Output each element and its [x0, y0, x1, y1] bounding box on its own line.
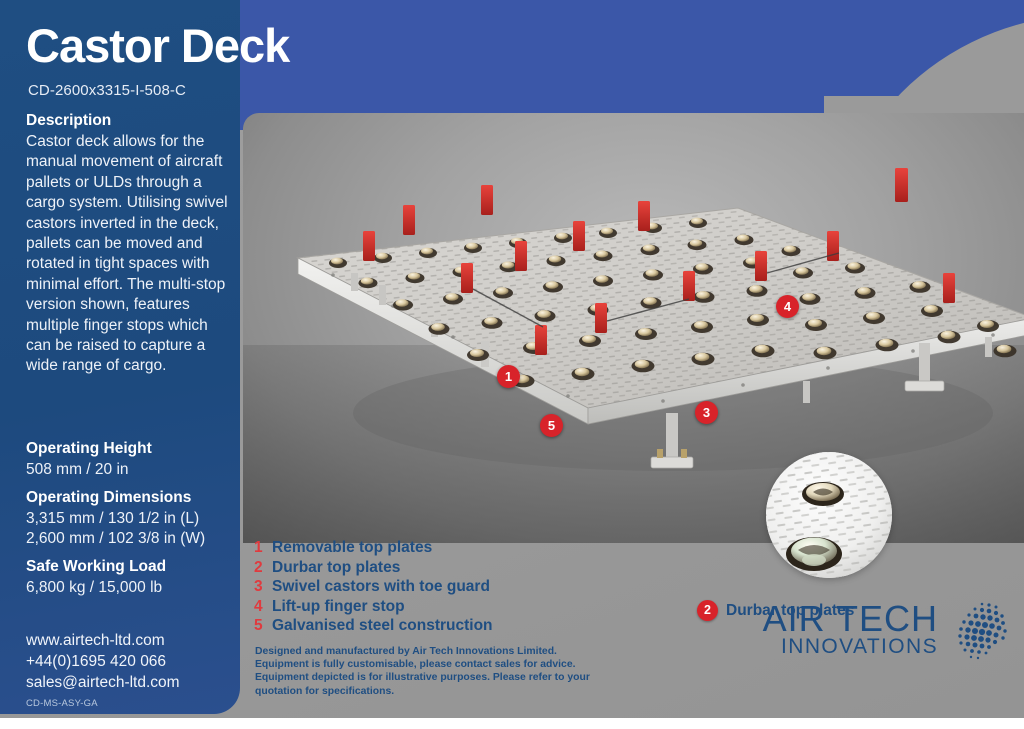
legend-label: Swivel castors with toe guard [272, 577, 490, 597]
contact-email[interactable]: sales@airtech-ltd.com [26, 672, 236, 693]
spec-safe-working-load: Safe Working Load 6,800 kg / 15,000 lb [26, 558, 236, 598]
spec-operating-dimensions: Operating Dimensions 3,315 mm / 130 1/2 … [26, 489, 236, 549]
spec-heading: Operating Height [26, 440, 236, 458]
page-title: Castor Deck [26, 22, 289, 69]
detail-badge: 2 [697, 600, 718, 621]
legend-number: 5 [254, 616, 272, 636]
product-image-panel: 1 3 4 5 [243, 113, 1024, 543]
globe-icon [942, 598, 1010, 669]
spec-operating-height: Operating Height 508 mm / 20 in [26, 440, 236, 480]
spec-value: 508 mm / 20 in [26, 460, 236, 480]
disclaimer-text: Designed and manufactured by Air Tech In… [255, 645, 675, 698]
specifications-block: Operating Height 508 mm / 20 in Operatin… [26, 440, 236, 607]
legend-label: Galvanised steel construction [272, 616, 493, 636]
spec-value-length: 3,315 mm / 130 1/2 in (L) [26, 509, 236, 529]
legend-label: Lift-up finger stop [272, 597, 405, 617]
description-heading: Description [26, 112, 231, 130]
spec-heading: Safe Working Load [26, 558, 236, 576]
legend-item-2: 2 Durbar top plates [254, 558, 493, 578]
legend-number: 2 [254, 558, 272, 578]
contact-block: www.airtech-ltd.com +44(0)1695 420 066 s… [26, 630, 236, 709]
product-code: CD-2600x3315-I-508-C [28, 82, 186, 99]
info-sidebar: Castor Deck CD-2600x3315-I-508-C Descrip… [0, 0, 240, 714]
datasheet-page: 1 3 4 5 Castor Deck CD-2600x3315-I-508-C… [0, 0, 1024, 729]
legend-number: 1 [254, 538, 272, 558]
legend-item-3: 3 Swivel castors with toe guard [254, 577, 493, 597]
disclaimer-line-4: quotation for specifications. [255, 685, 675, 698]
legend-label: Removable top plates [272, 538, 432, 558]
disclaimer-line-1: Designed and manufactured by Air Tech In… [255, 645, 675, 658]
legend-item-5: 5 Galvanised steel construction [254, 616, 493, 636]
render-marker-3: 3 [695, 401, 718, 424]
disclaimer-line-3: Equipment depicted is for illustrative p… [255, 671, 675, 684]
disclaimer-line-2: Equipment is fully customisable, please … [255, 658, 675, 671]
render-marker-4: 4 [776, 295, 799, 318]
spec-heading: Operating Dimensions [26, 489, 236, 507]
contact-website[interactable]: www.airtech-ltd.com [26, 630, 236, 651]
description-block: Description Castor deck allows for the m… [26, 112, 231, 377]
legend-list: 1 Removable top plates 2 Durbar top plat… [254, 538, 493, 636]
spec-value: 6,800 kg / 15,000 lb [26, 578, 236, 598]
render-marker-1: 1 [497, 365, 520, 388]
durbar-detail-closeup [766, 452, 892, 578]
render-marker-5: 5 [540, 414, 563, 437]
spec-value-width: 2,600 mm / 102 3/8 in (W) [26, 529, 236, 549]
document-code: CD-MS-ASY-GA [26, 698, 236, 709]
legend-item-1: 1 Removable top plates [254, 538, 493, 558]
brand-logo: AIR TECH INNOVATIONS [763, 600, 1012, 658]
legend-number: 4 [254, 597, 272, 617]
legend-item-4: 4 Lift-up finger stop [254, 597, 493, 617]
contact-phone[interactable]: +44(0)1695 420 066 [26, 651, 236, 672]
castor-deck-illustration [243, 113, 1024, 543]
legend-number: 3 [254, 577, 272, 597]
legend-label: Durbar top plates [272, 558, 400, 578]
description-text: Castor deck allows for the manual moveme… [26, 132, 231, 377]
